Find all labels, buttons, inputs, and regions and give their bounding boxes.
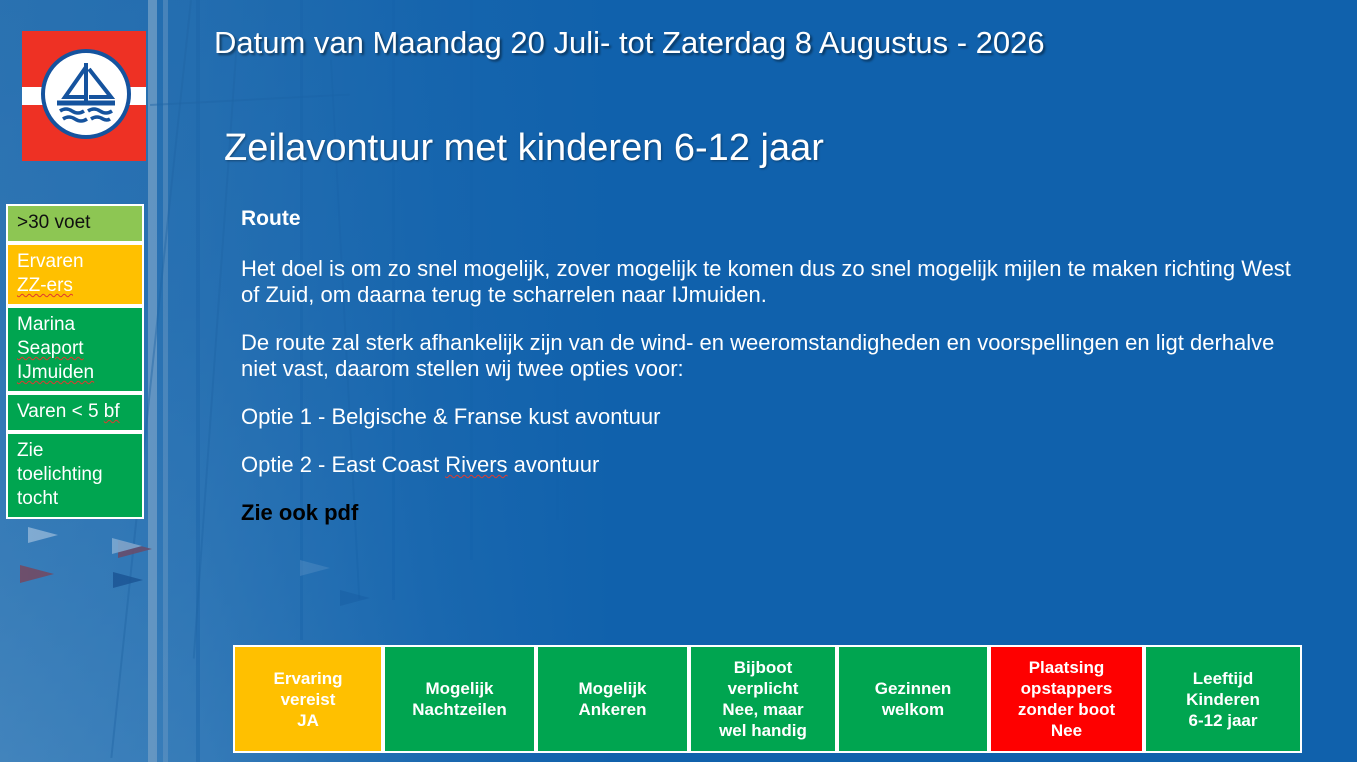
badge-experience[interactable]: ErvarenZZ-ers (6, 243, 144, 306)
option-1: Optie 1 - Belgische & Franse kust avontu… (241, 404, 1309, 430)
option-2-misspelled-word: Rivers (445, 452, 507, 477)
requirement-badge-list: >30 voet ErvarenZZ-ers MarinaSeaportIJmu… (6, 204, 144, 519)
attributes-table: ErvaringvereistJA MogelijkNachtzeilen Mo… (233, 645, 1302, 753)
presentation-slide: >30 voet ErvarenZZ-ers MarinaSeaportIJmu… (0, 0, 1357, 762)
badge-size-label: >30 voet (17, 212, 90, 233)
option-2: Optie 2 - East Coast Rivers avontuur (241, 452, 1309, 478)
section-heading-route: Route (241, 206, 1309, 232)
slide-body: Route Het doel is om zo snel mogelijk, z… (241, 206, 1309, 548)
table-cell-nachtzeilen[interactable]: MogelijkNachtzeilen (383, 645, 536, 753)
table-cell-leeftijd[interactable]: LeeftijdKinderen6-12 jaar (1144, 645, 1302, 753)
sailboat-waves-icon (41, 49, 131, 139)
footnote-pdf: Zie ook pdf (241, 500, 1309, 526)
table-cell-ervaring[interactable]: ErvaringvereistJA (233, 645, 383, 753)
option-2-prefix: Optie 2 - East Coast (241, 452, 445, 477)
page-title: Zeilavontuur met kinderen 6-12 jaar (224, 125, 824, 171)
badge-marina[interactable]: MarinaSeaportIJmuiden (6, 306, 144, 393)
badge-wind[interactable]: Varen < 5 bf (6, 393, 144, 432)
body-paragraph-2: De route zal sterk afhankelijk zijn van … (241, 330, 1309, 382)
date-header: Datum van Maandag 20 Juli- tot Zaterdag … (214, 24, 1214, 62)
table-cell-gezinnen[interactable]: Gezinnenwelkom (837, 645, 989, 753)
badge-size[interactable]: >30 voet (6, 204, 144, 243)
table-cell-bijboot[interactable]: BijbootverplichtNee, maarwel handig (689, 645, 837, 753)
club-logo (22, 31, 146, 161)
badge-marina-term-2: IJmuiden (17, 362, 94, 383)
option-2-suffix: avontuur (508, 452, 600, 477)
badge-wind-unit: bf (104, 401, 120, 422)
table-cell-opstappers[interactable]: Plaatsingopstapperszonder bootNee (989, 645, 1144, 753)
badge-info[interactable]: Zietoelichtingtocht (6, 432, 144, 519)
badge-experience-term: ZZ-ers (17, 275, 73, 296)
body-paragraph-1: Het doel is om zo snel mogelijk, zover m… (241, 256, 1309, 308)
table-cell-ankeren[interactable]: MogelijkAnkeren (536, 645, 689, 753)
badge-marina-term-1: Seaport (17, 338, 84, 359)
